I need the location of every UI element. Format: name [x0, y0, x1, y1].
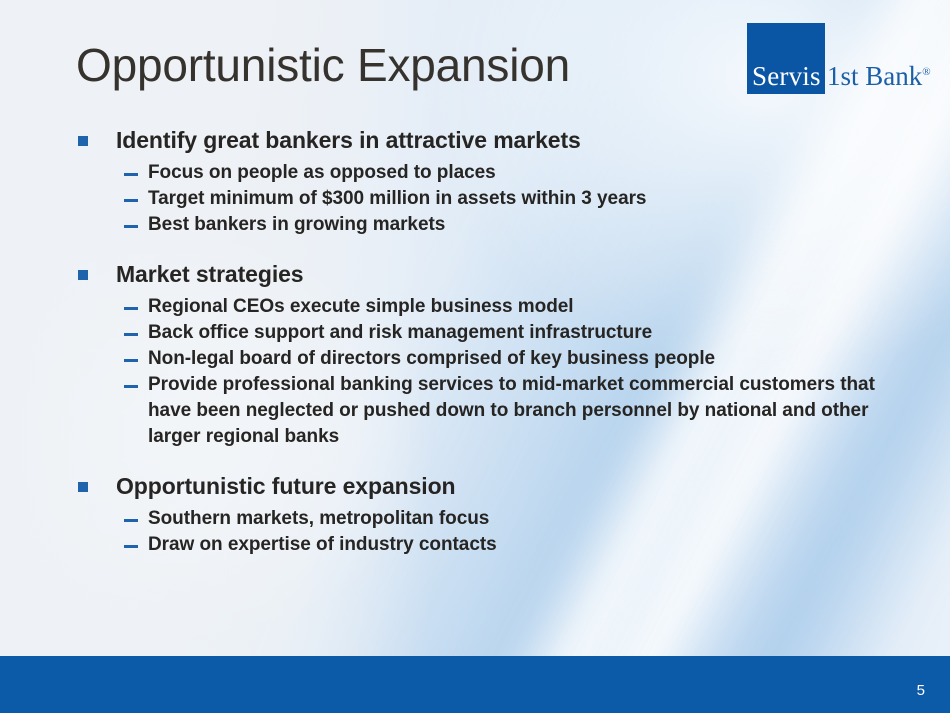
level2-bullet-text: Non-legal board of directors comprised o…	[138, 346, 715, 372]
level2-bullet-text: Southern markets, metropolitan focus	[138, 506, 489, 532]
level1-bullet-text: Identify great bankers in attractive mar…	[88, 126, 581, 156]
level2-bullet-text: Regional CEOs execute simple business mo…	[138, 294, 574, 320]
level2-bullet-text: Focus on people as opposed to places	[138, 160, 496, 186]
level2-bullet: Back office support and risk management …	[76, 320, 906, 346]
bullet-group: Market strategies Regional CEOs execute …	[76, 260, 906, 450]
dash-bullet-icon	[124, 333, 138, 336]
level2-bullet-text: Draw on expertise of industry contacts	[138, 532, 497, 558]
level1-bullet: Identify great bankers in attractive mar…	[76, 126, 906, 156]
dash-bullet-icon	[124, 545, 138, 548]
level2-bullet: Focus on people as opposed to places	[76, 160, 906, 186]
slide-number: 5	[917, 682, 925, 699]
level2-bullet-text: Best bankers in growing markets	[138, 212, 445, 238]
logo-1st-bank-text: 1st Bank	[827, 61, 922, 91]
square-bullet-icon	[78, 270, 88, 280]
slide-title: Opportunistic Expansion	[76, 38, 570, 92]
bullet-group: Opportunistic future expansion Southern …	[76, 472, 906, 558]
level2-bullet-text: Provide professional banking services to…	[138, 372, 906, 450]
level2-bullet: Regional CEOs execute simple business mo…	[76, 294, 906, 320]
registered-trademark-icon: ®	[922, 66, 930, 78]
slide-body: Identify great bankers in attractive mar…	[76, 126, 906, 558]
dash-bullet-icon	[124, 385, 138, 388]
footer-bar: 5	[0, 656, 950, 713]
logo-blue-box: Servis	[747, 23, 825, 94]
level2-bullet: Target minimum of $300 million in assets…	[76, 186, 906, 212]
dash-bullet-icon	[124, 199, 138, 202]
level2-bullet: Provide professional banking services to…	[76, 372, 906, 450]
logo-wordmark: 1st Bank®	[825, 63, 931, 94]
level1-bullet: Market strategies	[76, 260, 906, 290]
level1-bullet: Opportunistic future expansion	[76, 472, 906, 502]
level2-bullet-text: Target minimum of $300 million in assets…	[138, 186, 646, 212]
level2-bullet: Southern markets, metropolitan focus	[76, 506, 906, 532]
presentation-slide: Servis 1st Bank® Opportunistic Expansion…	[0, 0, 950, 713]
dash-bullet-icon	[124, 359, 138, 362]
level1-bullet-text: Opportunistic future expansion	[88, 472, 455, 502]
level2-bullet: Best bankers in growing markets	[76, 212, 906, 238]
dash-bullet-icon	[124, 307, 138, 310]
square-bullet-icon	[78, 482, 88, 492]
logo-servis-text: Servis	[752, 63, 821, 90]
dash-bullet-icon	[124, 225, 138, 228]
bullet-group: Identify great bankers in attractive mar…	[76, 126, 906, 238]
level1-bullet-text: Market strategies	[88, 260, 304, 290]
servisfirst-bank-logo: Servis 1st Bank®	[747, 22, 931, 94]
level2-bullet-text: Back office support and risk management …	[138, 320, 652, 346]
level2-bullet: Draw on expertise of industry contacts	[76, 532, 906, 558]
level2-bullet: Non-legal board of directors comprised o…	[76, 346, 906, 372]
dash-bullet-icon	[124, 519, 138, 522]
square-bullet-icon	[78, 136, 88, 146]
dash-bullet-icon	[124, 173, 138, 176]
